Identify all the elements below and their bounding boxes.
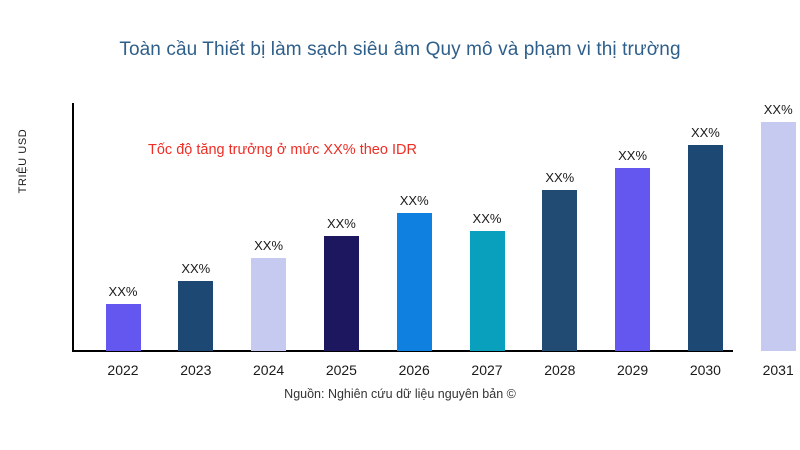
x-axis-tick-2023: 2023 xyxy=(161,362,230,378)
x-axis-tick-2024: 2024 xyxy=(234,362,303,378)
bar-value-label-2026: XX% xyxy=(383,193,446,208)
bar-value-label-2029: XX% xyxy=(601,148,664,163)
x-axis-tick-2030: 2030 xyxy=(671,362,740,378)
bar-value-label-2028: XX% xyxy=(528,170,591,185)
source-note: Nguồn: Nghiên cứu dữ liệu nguyên bản © xyxy=(0,387,800,401)
bar-2022[interactable] xyxy=(106,304,141,351)
growth-rate-annotation: Tốc độ tăng trưởng ở mức XX% theo IDR xyxy=(148,142,417,158)
bar-value-label-2024: XX% xyxy=(237,238,300,253)
bar-value-label-2022: XX% xyxy=(92,284,155,299)
bar-value-label-2030: XX% xyxy=(674,125,737,140)
bar-chart: Toàn cầu Thiết bị làm sạch siêu âm Quy m… xyxy=(0,0,800,450)
x-axis-tick-2027: 2027 xyxy=(453,362,522,378)
x-axis-tick-2028: 2028 xyxy=(525,362,594,378)
x-axis-tick-2026: 2026 xyxy=(380,362,449,378)
bar-2030[interactable] xyxy=(688,145,723,351)
bar-2026[interactable] xyxy=(397,213,432,351)
bar-value-label-2023: XX% xyxy=(164,261,227,276)
bar-2027[interactable] xyxy=(470,231,505,351)
x-axis-tick-2031: 2031 xyxy=(744,362,800,378)
x-axis-tick-2029: 2029 xyxy=(598,362,667,378)
x-axis-tick-2022: 2022 xyxy=(89,362,158,378)
x-axis-tick-2025: 2025 xyxy=(307,362,376,378)
bar-value-label-2027: XX% xyxy=(456,211,519,226)
bar-2028[interactable] xyxy=(542,190,577,351)
bar-2025[interactable] xyxy=(324,236,359,351)
bar-2024[interactable] xyxy=(251,258,286,351)
bar-2031[interactable] xyxy=(761,122,796,351)
bar-2029[interactable] xyxy=(615,168,650,351)
bar-value-label-2025: XX% xyxy=(310,216,373,231)
bar-value-label-2031: XX% xyxy=(747,102,800,117)
y-axis-label: TRIỆU USD xyxy=(17,111,29,211)
bar-2023[interactable] xyxy=(178,281,213,351)
y-axis-line xyxy=(72,103,74,352)
chart-title: Toàn cầu Thiết bị làm sạch siêu âm Quy m… xyxy=(0,39,800,61)
